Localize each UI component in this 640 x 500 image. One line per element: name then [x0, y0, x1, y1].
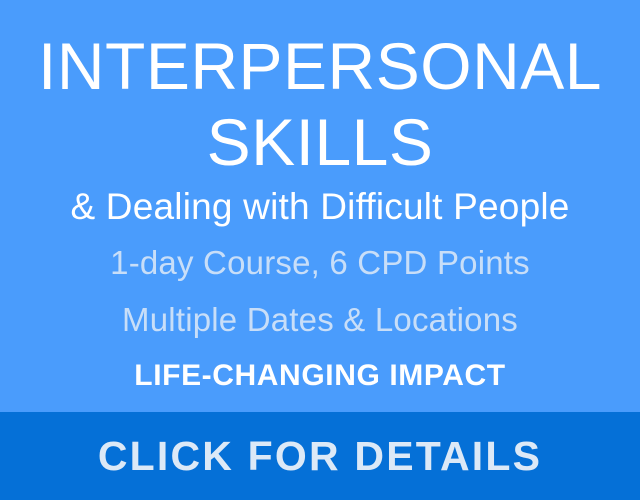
banner-detail-course-length: 1-day Course, 6 CPD Points — [0, 243, 640, 283]
banner-tagline: LIFE-CHANGING IMPACT — [0, 358, 640, 394]
banner-detail-dates-locations: Multiple Dates & Locations — [0, 300, 640, 340]
banner-copy-block: INTERPERSONAL SKILLS & Dealing with Diff… — [0, 0, 640, 412]
headline-line-2: SKILLS — [0, 104, 640, 180]
cta-button-label: CLICK FOR DETAILS — [0, 412, 640, 500]
click-for-details-button[interactable]: CLICK FOR DETAILS — [0, 412, 640, 500]
banner-headline: INTERPERSONAL SKILLS — [0, 28, 640, 180]
banner-subtitle: & Dealing with Difficult People — [0, 185, 640, 229]
headline-line-1: INTERPERSONAL — [0, 28, 640, 104]
course-promo-banner: INTERPERSONAL SKILLS & Dealing with Diff… — [0, 0, 640, 500]
